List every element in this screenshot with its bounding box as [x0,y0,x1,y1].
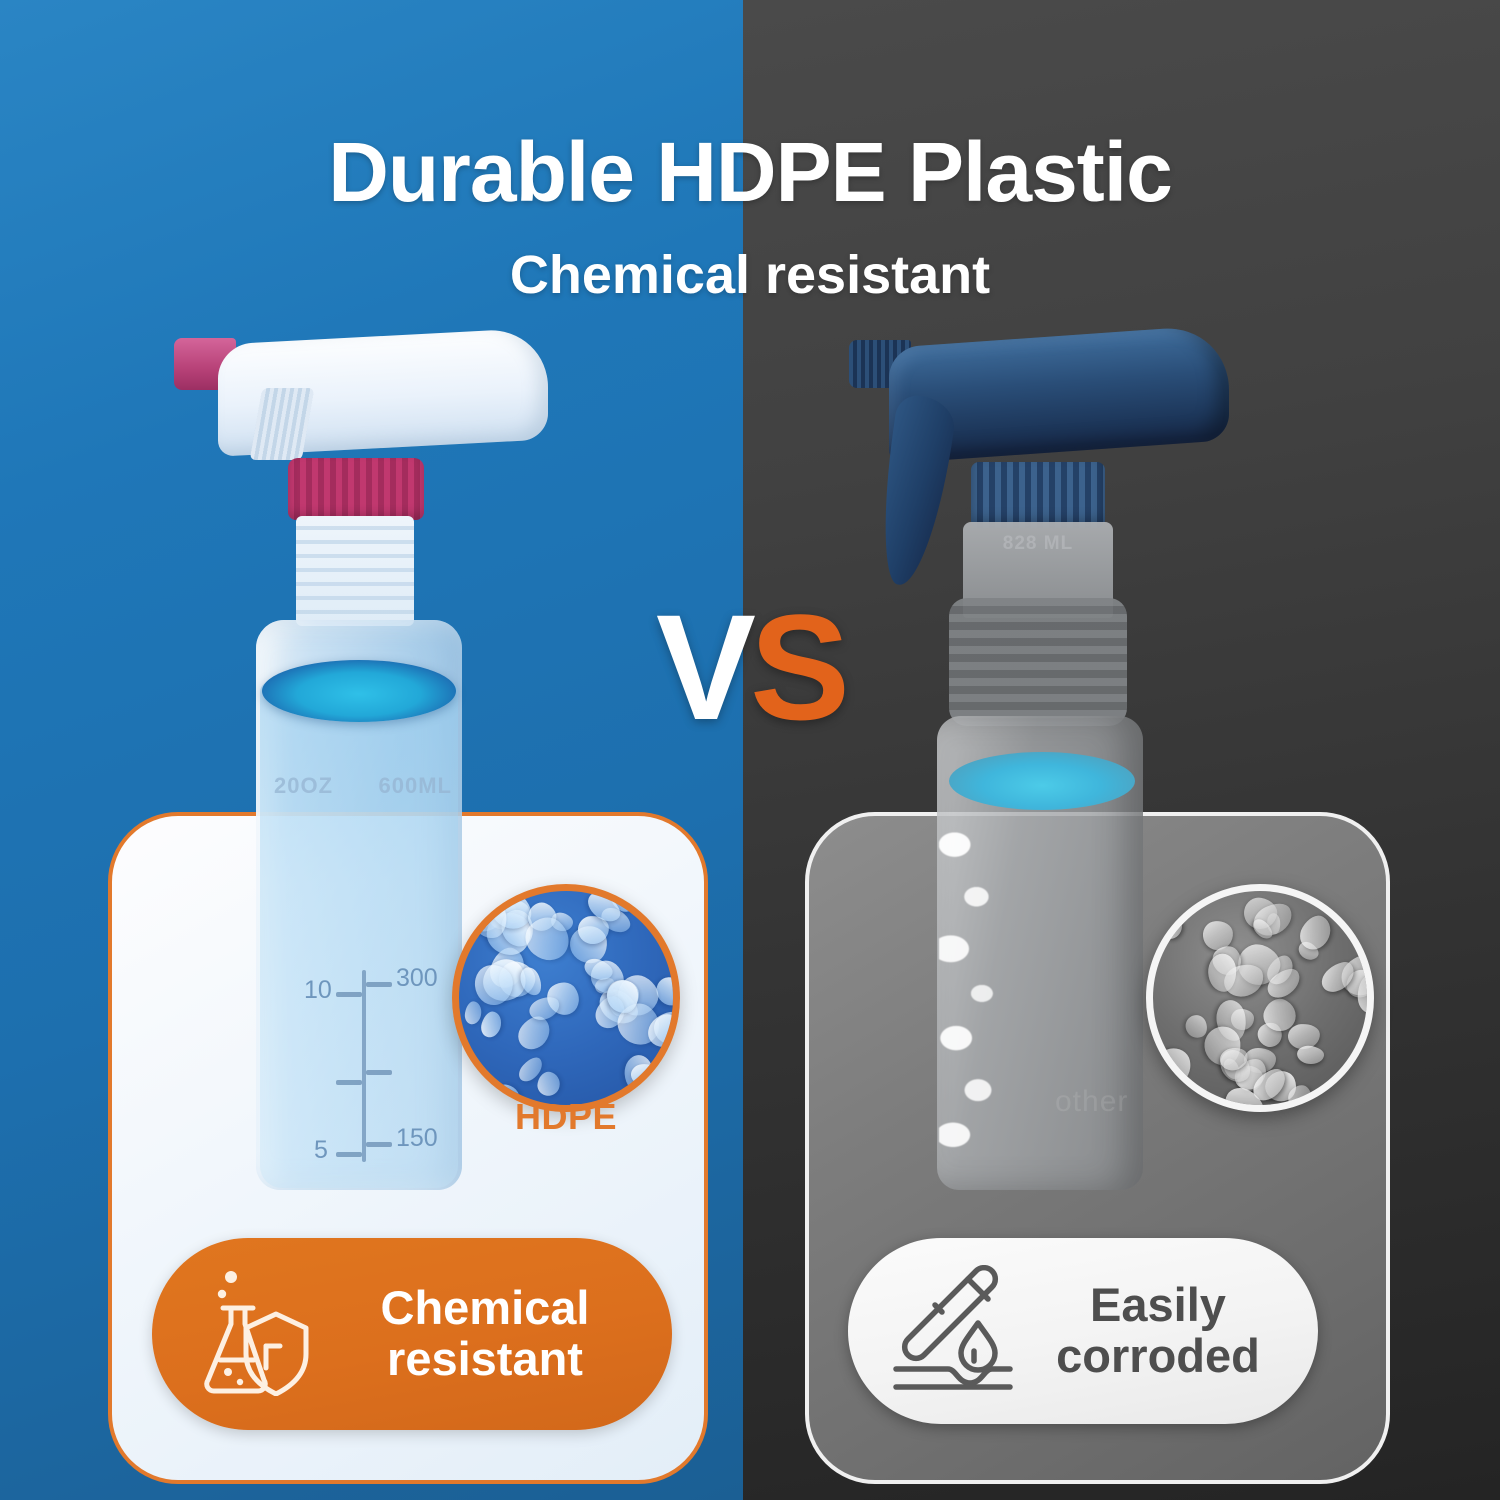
scale-label-5: 5 [314,1136,328,1165]
capacity-ml-label: 600ML [379,773,452,799]
resin-pellet [464,1001,484,1026]
scale-tick-major-right-300 [366,982,392,987]
badge-left-line1: Chemical [316,1283,654,1334]
flask-shield-icon [198,1268,316,1401]
capacity-oz-label: 20OZ [274,773,333,799]
bottle-watermark-right: other [1055,1085,1128,1119]
badge-left-line2: resistant [316,1334,654,1385]
pellet-cluster-left [459,891,673,1105]
scale-axis [362,970,366,1162]
capacity-emboss-left: 20OZ 600ML [264,768,462,804]
resin-pellet [536,1070,563,1098]
page-subtitle: Chemical resistant [0,248,1500,302]
corrosion-damage-overlay [939,800,1017,1172]
trigger-lever-right [872,393,958,590]
collar-left [288,458,424,520]
scale-label-10: 10 [304,976,332,1005]
resin-pellet [630,1063,659,1087]
pellet-cluster-right [1153,891,1367,1105]
resin-pellet [1156,912,1186,943]
scale-tick-major-left-10 [336,992,362,997]
scale-tick-mid-right [366,1070,392,1075]
chemical-resistant-badge: Chemical resistant [152,1238,672,1430]
versus-badge: VS [0,592,1500,742]
hdpe-caption: HDPE [452,1096,680,1138]
hdpe-pellet-inset [452,884,680,1112]
trigger-lever-left [192,383,278,572]
scale-label-300: 300 [396,964,438,993]
scale-tick-major-left-5 [336,1152,362,1157]
resin-pellet [1296,1044,1324,1065]
badge-right-line2: corroded [1016,1331,1300,1382]
easily-corroded-badge: Easily corroded [848,1238,1318,1424]
test-tube-corrosion-icon [890,1265,1016,1398]
ordinary-pellet-inset [1146,884,1374,1112]
scale-label-150: 150 [396,1124,438,1153]
heading-block: Durable HDPE Plastic Chemical resistant [0,0,1500,302]
resin-pellet [479,1009,505,1040]
scale-tick-major-right-150 [366,1142,392,1147]
scale-tick-mid-left [336,1080,362,1085]
versus-v-letter: V [656,583,750,751]
chemical-resistant-label: Chemical resistant [316,1283,672,1385]
capacity-emboss-right: 828 ML [963,530,1113,558]
badge-right-line1: Easily [1016,1280,1300,1331]
easily-corroded-label: Easily corroded [1016,1280,1318,1382]
page-title: Durable HDPE Plastic [0,130,1500,214]
infographic-root: Durable HDPE Plastic Chemical resistant … [0,0,1500,1500]
collar-right [971,462,1105,528]
versus-s-letter: S [750,583,844,751]
measurement-scale-left: 300 10 150 5 [310,970,460,1180]
